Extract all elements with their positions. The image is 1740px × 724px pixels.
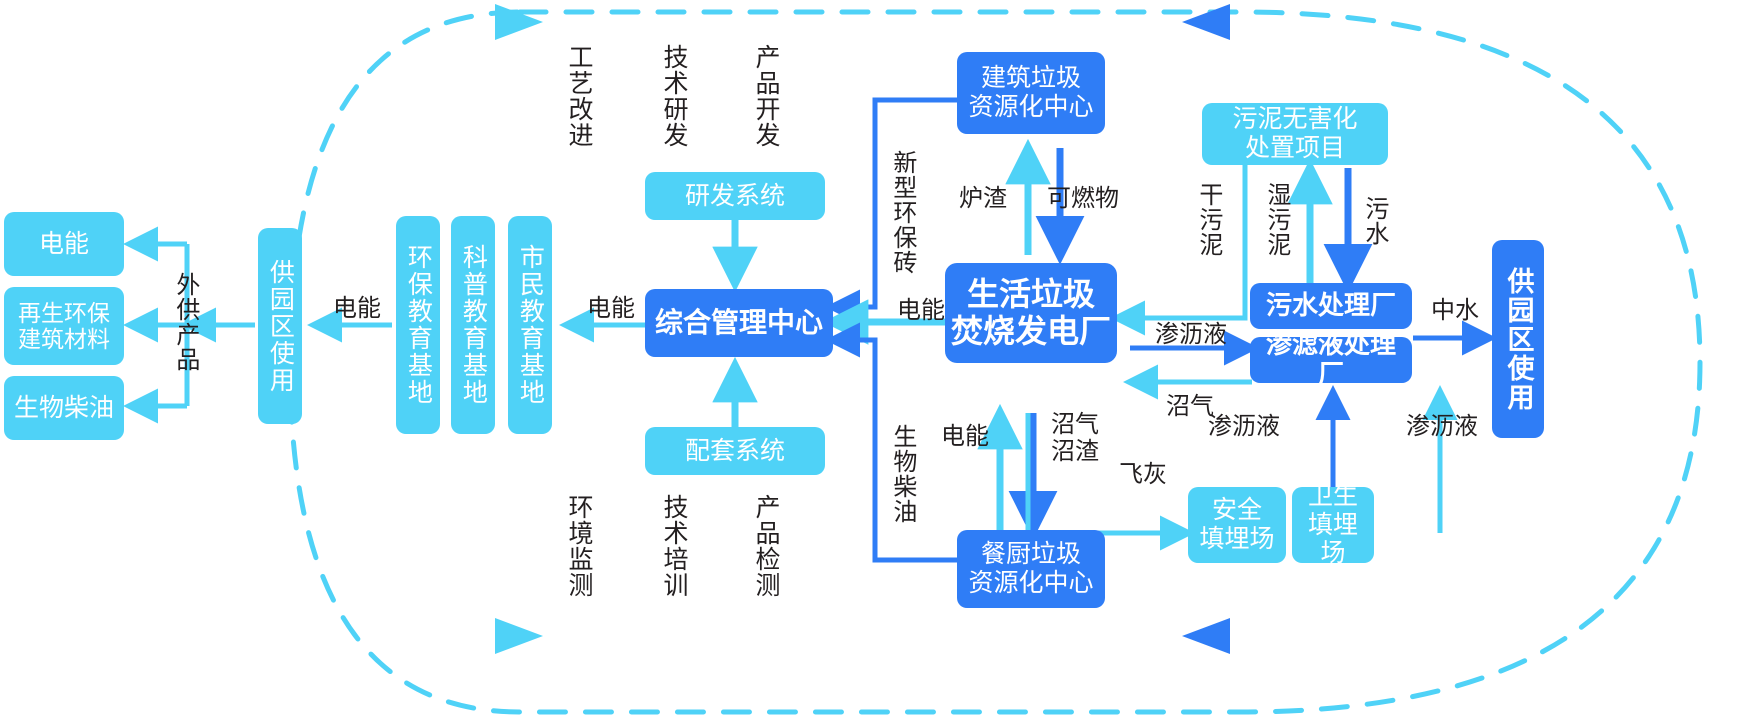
node-electric-energy-out[interactable]: 电能: [4, 212, 124, 276]
node-science-edu-base[interactable]: 科普教育基地: [451, 216, 495, 434]
node-kitchen-waste-center[interactable]: 餐厨垃圾 资源化中心: [957, 530, 1105, 608]
label-process-improvement: 工艺改进: [565, 44, 593, 148]
label-env-monitoring: 环境监测: [565, 494, 593, 598]
label-combustibles: 可燃物: [1038, 186, 1128, 213]
label-leachate-secure: 渗沥液: [1190, 414, 1298, 441]
label-product-testing: 产品检测: [752, 494, 780, 598]
node-rd-system[interactable]: 研发系统: [645, 172, 825, 220]
power-biogas-arrows: [1000, 413, 1033, 530]
label-power-kitchen: 电能: [932, 424, 998, 451]
label-dry-sludge: 干污泥: [1194, 182, 1221, 257]
node-support-system[interactable]: 配套系统: [645, 427, 825, 475]
label-biodiesel-flow: 生物柴油: [888, 424, 915, 524]
loop-arrow-bottom-right: [1182, 618, 1230, 654]
label-tech-training: 技术培训: [660, 494, 688, 598]
label-sewage: 污水: [1360, 196, 1387, 246]
label-leachate-to-plant: 渗沥液: [1137, 322, 1245, 349]
node-park-use-left[interactable]: 供园区使用: [258, 228, 302, 424]
label-external-products: 外供产品: [171, 272, 198, 372]
label-slag: 炉渣: [950, 186, 1016, 213]
diagram-canvas: 电能 再生环保 建筑材料 生物柴油 外供产品 供园区使用 电能 环保教育基地 科…: [0, 0, 1740, 724]
node-construction-waste-center[interactable]: 建筑垃圾 资源化中心: [957, 52, 1105, 134]
label-leachate-sanitary: 渗沥液: [1388, 414, 1496, 441]
node-park-use-right[interactable]: 供园区使用: [1492, 240, 1544, 438]
node-sanitary-landfill[interactable]: 卫生 填埋场: [1292, 487, 1374, 563]
label-power-to-edu: 电能: [576, 296, 646, 323]
node-secure-landfill[interactable]: 安全 填埋场: [1188, 487, 1286, 563]
dry-sludge-path: [1117, 165, 1245, 318]
node-leachate-treatment-plant[interactable]: 渗滤液处理厂: [1250, 337, 1412, 383]
label-tech-rd: 技术研发: [660, 44, 688, 148]
node-recycled-building-material[interactable]: 再生环保 建筑材料: [4, 287, 124, 365]
loop-arrow-bottom-left: [495, 618, 543, 654]
loop-arrow-top-right: [1182, 4, 1230, 40]
node-citizen-edu-base[interactable]: 市民教育基地: [508, 216, 552, 434]
wet-sludge-sewage-arrows: [1310, 168, 1348, 283]
label-product-dev: 产品开发: [752, 44, 780, 148]
label-power-to-park: 电能: [322, 296, 392, 323]
label-eco-brick: 新型环保砖: [888, 150, 915, 275]
label-wet-sludge: 湿污泥: [1262, 182, 1289, 257]
node-management-center[interactable]: 综合管理中心: [645, 289, 833, 357]
node-sludge-harmless-project[interactable]: 污泥无害化 处置项目: [1202, 103, 1388, 165]
label-biogas-residue: 沼气 沼渣: [1040, 412, 1110, 466]
node-biodiesel-out[interactable]: 生物柴油: [4, 376, 124, 440]
node-msw-incineration-plant[interactable]: 生活垃圾 焚烧发电厂: [945, 263, 1117, 363]
label-fly-ash: 飞灰: [1108, 462, 1178, 489]
node-sewage-treatment-plant[interactable]: 污水处理厂: [1250, 283, 1412, 329]
loop-arrow-top-left: [495, 4, 543, 40]
label-reclaimed-water: 中水: [1420, 298, 1490, 325]
node-env-edu-base[interactable]: 环保教育基地: [396, 216, 440, 434]
